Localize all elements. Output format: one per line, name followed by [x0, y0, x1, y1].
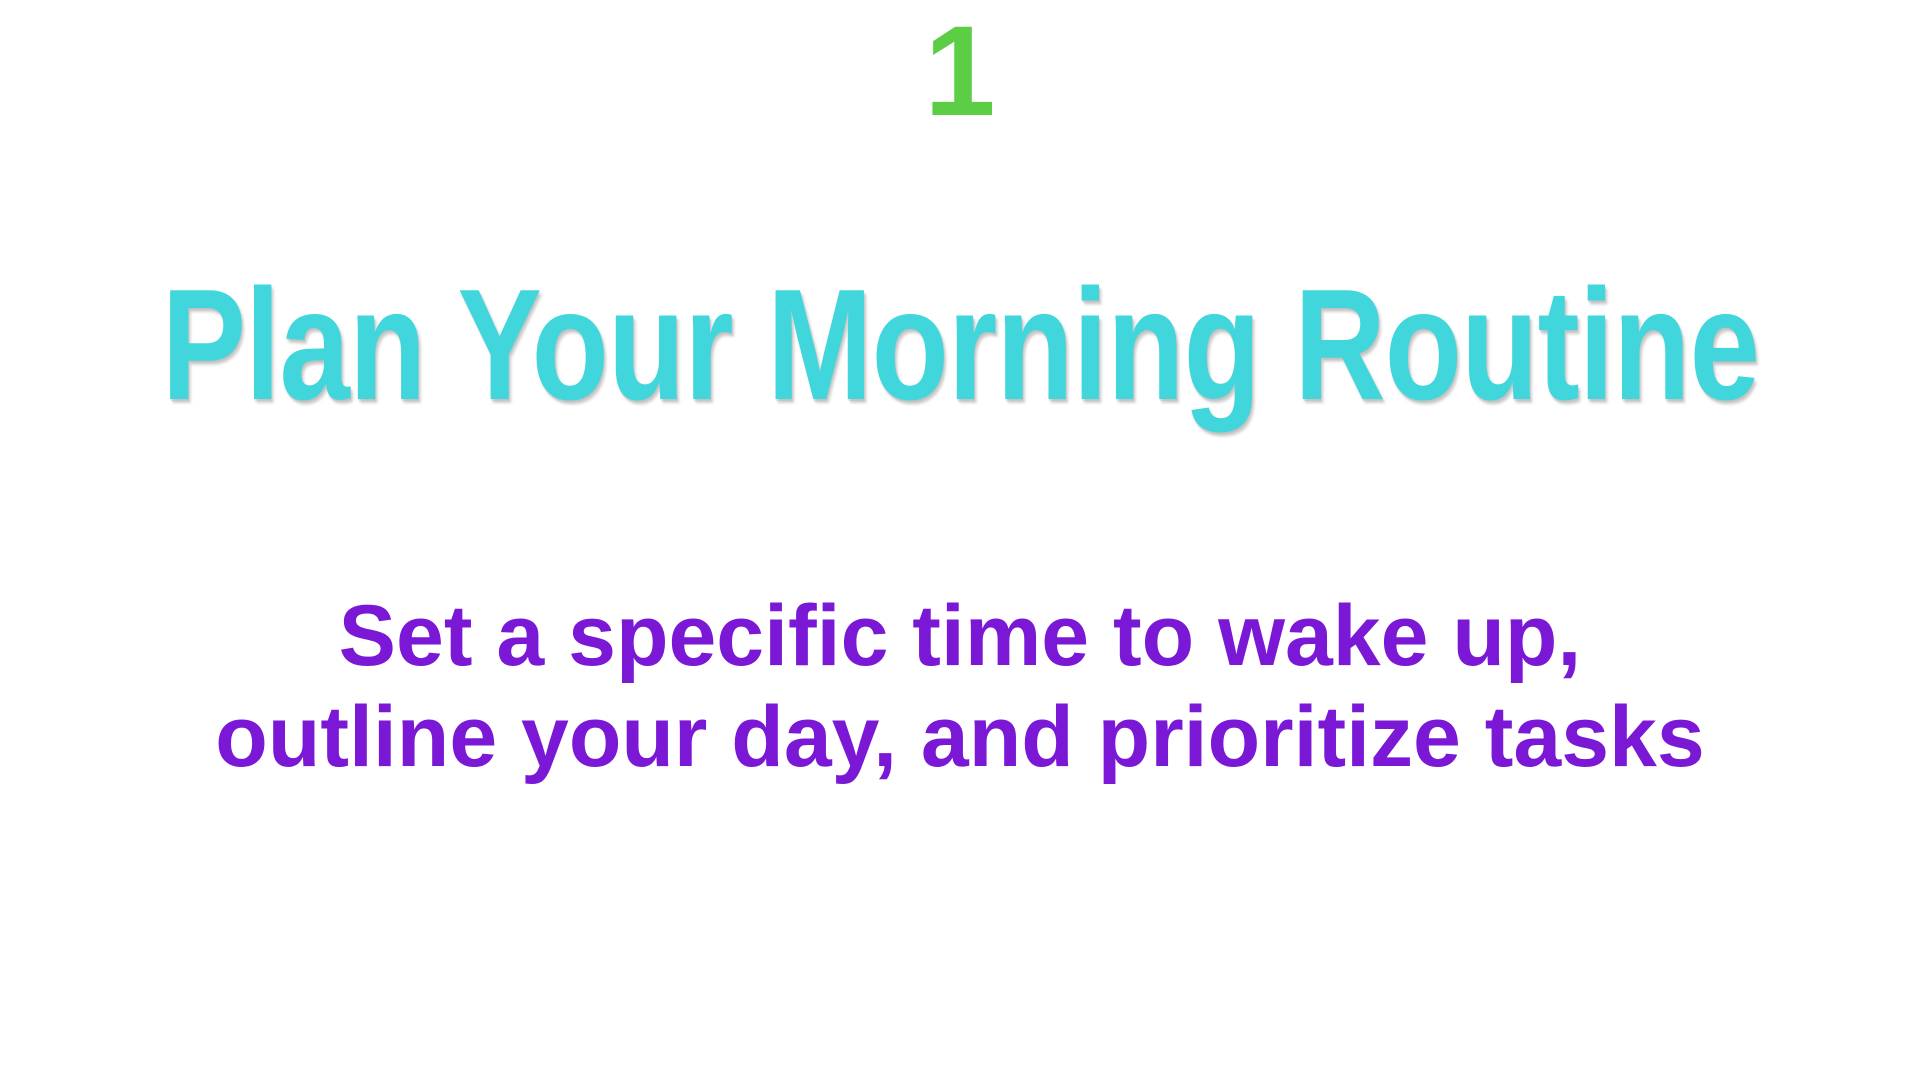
slide-headline: Plan Your Morning Routine	[161, 266, 1758, 424]
slide-content-stack: 1 Plan Your Morning Routine Set a specif…	[0, 0, 1920, 789]
slide-canvas: 1 Plan Your Morning Routine Set a specif…	[0, 0, 1920, 1080]
step-number: 1	[924, 8, 995, 136]
slide-body-copy: Set a specific time to wake up, outline …	[215, 586, 1704, 789]
body-copy-line-1: Set a specific time to wake up,	[215, 586, 1704, 687]
body-copy-line-2: outline your day, and prioritize tasks	[215, 687, 1704, 788]
